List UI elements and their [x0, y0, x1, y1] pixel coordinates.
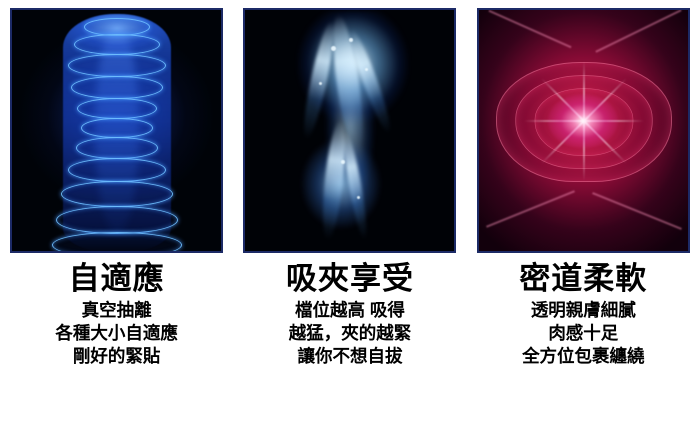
feature-line-1: 真空抽離 [0, 299, 233, 322]
feature-line-2: 肉感十足 [467, 322, 700, 345]
feature-panel-suction-enjoy: 吸夾享受 檔位越高 吸得 越猛，夾的越緊 讓你不想自拔 [233, 0, 466, 439]
feature-panel-soft-channel: 密道柔軟 透明親膚細膩 肉感十足 全方位包裹纏繞 [467, 0, 700, 439]
feature-line-2: 越猛，夾的越緊 [233, 322, 466, 345]
feature-panel-self-adapting: 自適應 真空抽離 各種大小自適應 剛好的緊貼 [0, 0, 233, 439]
feature-caption-block: 密道柔軟 透明親膚細膩 肉感十足 全方位包裹纏繞 [467, 259, 700, 368]
blue-white-plasma-swirl-photo [243, 8, 456, 253]
feature-headline: 自適應 [0, 259, 233, 299]
feature-headline: 密道柔軟 [467, 259, 700, 299]
product-feature-poster: 自適應 真空抽離 各種大小自適應 剛好的緊貼 [0, 0, 700, 439]
feature-line-3: 全方位包裹纏繞 [467, 345, 700, 368]
red-magenta-flower-photo [477, 8, 690, 253]
feature-line-3: 剛好的緊貼 [0, 345, 233, 368]
feature-caption-block: 自適應 真空抽離 各種大小自適應 剛好的緊貼 [0, 259, 233, 368]
blue-ribbed-coil-photo [10, 8, 223, 253]
feature-caption-block: 吸夾享受 檔位越高 吸得 越猛，夾的越緊 讓你不想自拔 [233, 259, 466, 368]
feature-headline: 吸夾享受 [233, 259, 466, 299]
feature-line-1: 透明親膚細膩 [467, 299, 700, 322]
feature-line-2: 各種大小自適應 [0, 322, 233, 345]
feature-line-1: 檔位越高 吸得 [233, 299, 466, 322]
feature-line-3: 讓你不想自拔 [233, 345, 466, 368]
